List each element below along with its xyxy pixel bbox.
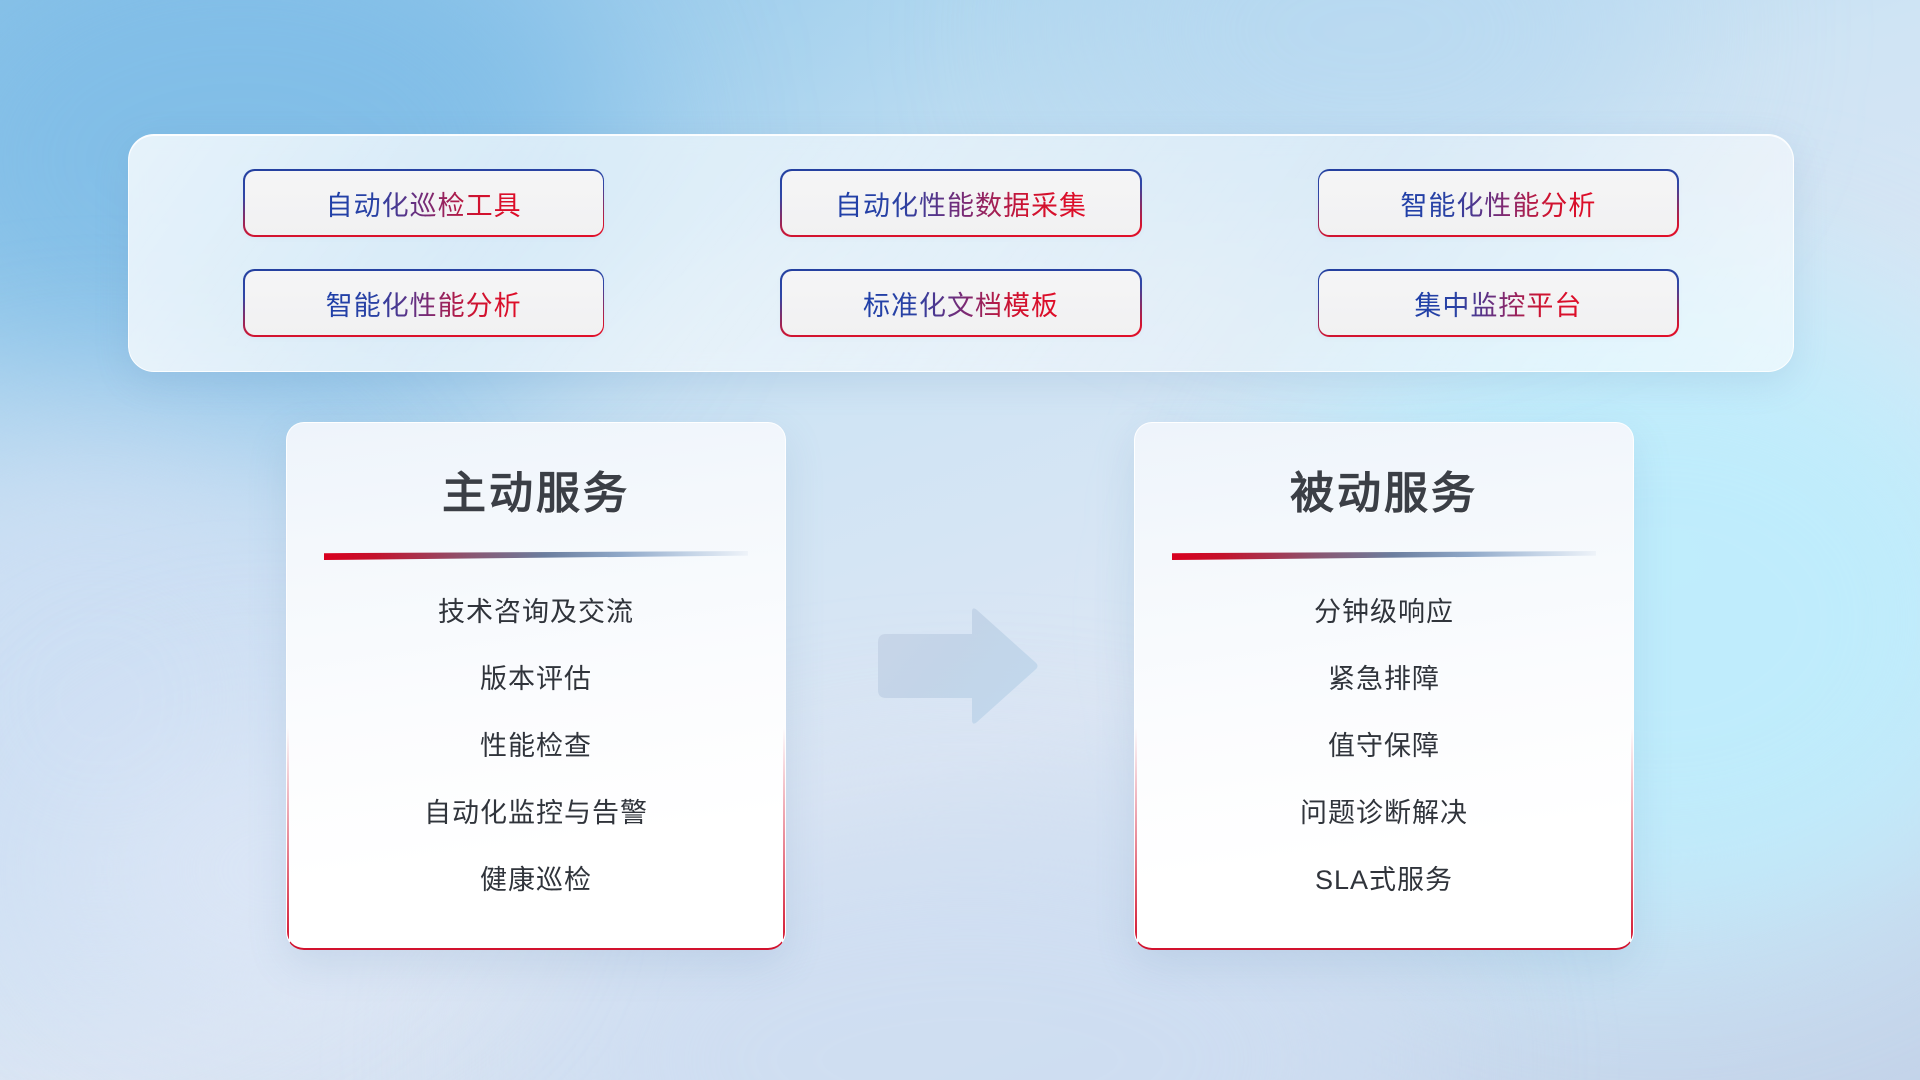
capability-tag[interactable]: 自动化性能数据采集 xyxy=(782,171,1140,235)
service-list-item: SLA式服务 xyxy=(1315,858,1453,897)
arrow-right-icon xyxy=(872,606,1040,728)
capability-tag-panel: 自动化巡检工具 自动化性能数据采集 智能化性能分析 智能化性能分析 标准化文档模… xyxy=(128,134,1794,372)
service-list-item: 健康巡检 xyxy=(480,858,592,897)
service-list-item: 自动化监控与告警 xyxy=(424,791,648,830)
service-list-item: 紧急排障 xyxy=(1328,657,1440,696)
capability-tag-label: 智能化性能分析 xyxy=(1400,184,1596,223)
service-item-list: 分钟级响应 紧急排障 值守保障 问题诊断解决 SLA式服务 xyxy=(1135,590,1633,897)
card-divider xyxy=(1172,551,1596,560)
slide-canvas: 自动化巡检工具 自动化性能数据采集 智能化性能分析 智能化性能分析 标准化文档模… xyxy=(0,0,1920,1080)
capability-tag[interactable]: 标准化文档模板 xyxy=(782,271,1140,335)
service-list-item: 技术咨询及交流 xyxy=(438,590,634,629)
service-list-item: 问题诊断解决 xyxy=(1300,791,1468,830)
capability-tag-label: 自动化性能数据采集 xyxy=(835,184,1087,223)
capability-tag-label: 集中监控平台 xyxy=(1414,284,1582,323)
service-list-item: 分钟级响应 xyxy=(1314,590,1454,629)
capability-tag-grid: 自动化巡检工具 自动化性能数据采集 智能化性能分析 智能化性能分析 标准化文档模… xyxy=(129,135,1793,371)
capability-tag-label: 智能化性能分析 xyxy=(326,284,522,323)
capability-tag[interactable]: 智能化性能分析 xyxy=(245,271,603,335)
service-card-active[interactable]: 主动服务 技术咨询及交流 版本评估 xyxy=(286,422,786,950)
service-card-passive[interactable]: 被动服务 分钟级响应 紧急排障 xyxy=(1134,422,1634,950)
service-list-item: 值守保障 xyxy=(1328,724,1440,763)
card-divider xyxy=(324,551,748,560)
service-card-title: 主动服务 xyxy=(287,457,785,521)
service-card-title: 被动服务 xyxy=(1135,457,1633,521)
service-list-item: 版本评估 xyxy=(480,657,592,696)
capability-tag-label: 标准化文档模板 xyxy=(863,284,1059,323)
service-list-item: 性能检查 xyxy=(480,724,592,763)
capability-tag[interactable]: 集中监控平台 xyxy=(1319,271,1677,335)
capability-tag[interactable]: 智能化性能分析 xyxy=(1319,171,1677,235)
capability-tag[interactable]: 自动化巡检工具 xyxy=(245,171,603,235)
capability-tag-label: 自动化巡检工具 xyxy=(326,184,522,223)
service-item-list: 技术咨询及交流 版本评估 性能检查 自动化监控与告警 健康巡检 xyxy=(287,590,785,897)
